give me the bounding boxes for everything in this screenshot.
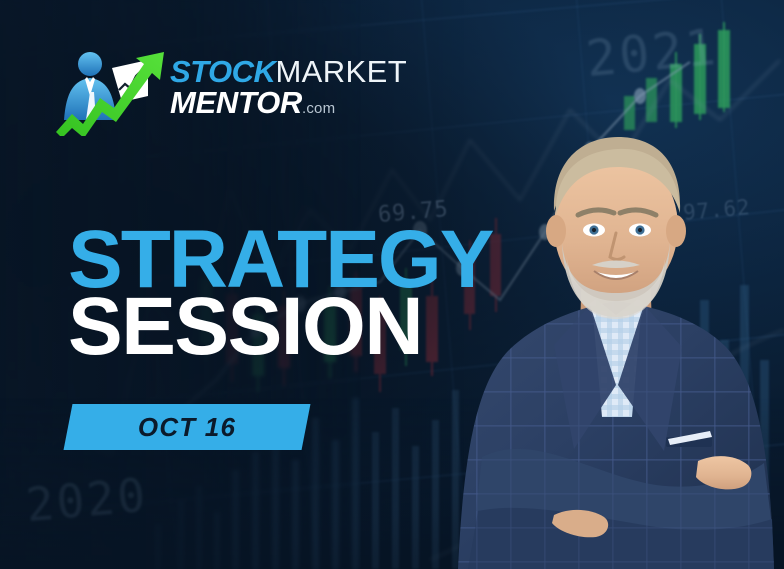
page-title: STRATEGY SESSION (68, 225, 492, 362)
watermark-year-2020: 2020 (24, 468, 150, 532)
logo-mark-svg (52, 40, 180, 136)
date-badge[interactable]: OCT 16 (64, 404, 311, 450)
businessman-chart-arrow-icon (52, 40, 180, 136)
date-badge-label: OCT 16 (138, 412, 236, 443)
strategy-session-banner: 2021 2020 69.75 97.62 (0, 0, 784, 569)
logo-wordmark: STOCKMARKET MENTOR.com (170, 58, 407, 117)
logo-line-one: STOCKMARKET (170, 58, 407, 87)
presenter-illustration (442, 119, 784, 569)
logo-word-mentor: MENTOR (170, 85, 302, 120)
logo-line-two: MENTOR.com (170, 89, 407, 118)
logo-word-dotcom: .com (302, 100, 335, 117)
presenter-photo (442, 119, 784, 569)
brand-logo[interactable]: STOCKMARKET MENTOR.com (52, 40, 332, 136)
